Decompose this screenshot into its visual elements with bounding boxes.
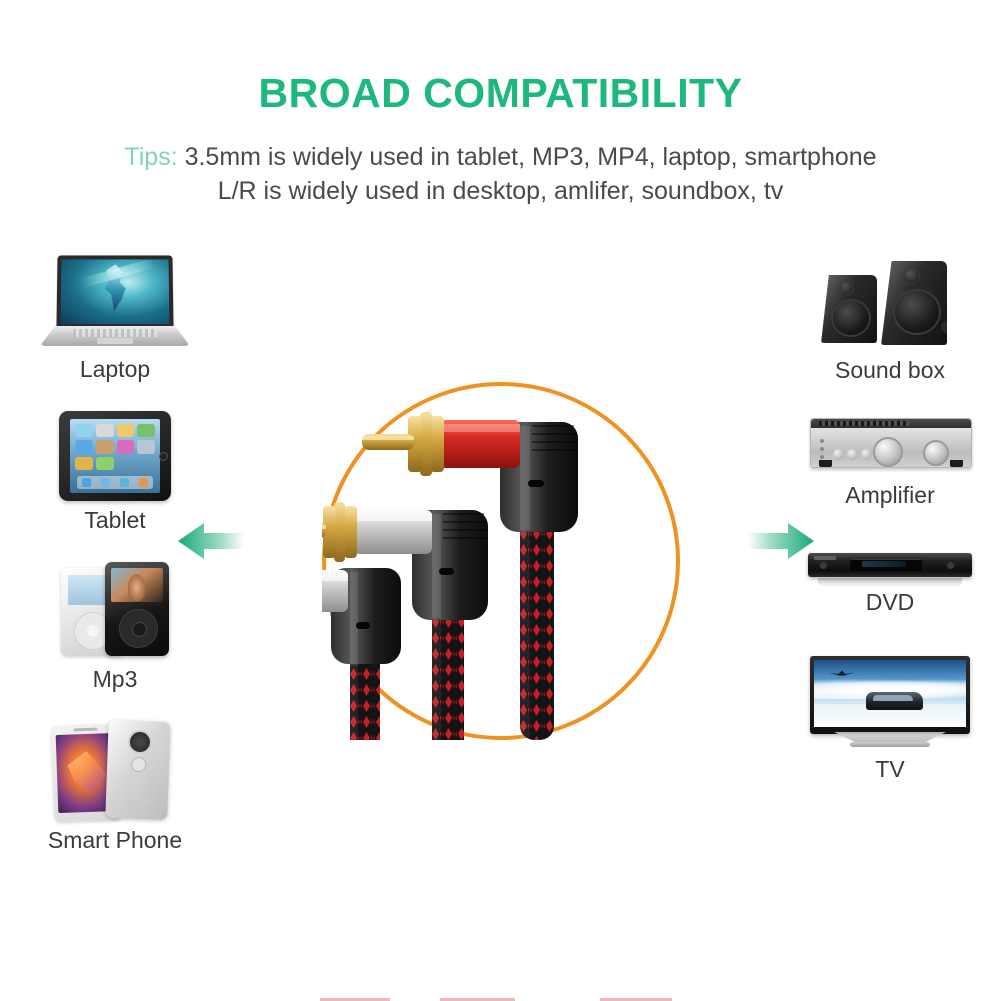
tablet-dock [77, 476, 153, 489]
tablet-icon [59, 411, 171, 501]
tablet-screen [70, 419, 160, 493]
tips-line-2: L/R is widely used in desktop, amlifer, … [0, 174, 1001, 208]
tv-bezel [810, 656, 970, 734]
device-amplifier: Amplifier [775, 414, 1001, 509]
device-mp3: Mp3 [0, 562, 230, 693]
phone-back-view [105, 720, 170, 820]
device-label-smartphone: Smart Phone [0, 827, 230, 854]
device-laptop: Laptop [0, 255, 230, 383]
mp3-black-unit [105, 562, 169, 656]
right-device-column: Sound box Amplifier [775, 255, 1001, 783]
laptop-keyboard-base [40, 326, 190, 346]
device-tv: TV [775, 656, 1001, 783]
dvd-player-icon [808, 543, 972, 583]
mp3-player-icon [61, 562, 169, 660]
smartphone-icon [45, 721, 185, 821]
tablet-app-grid [75, 424, 155, 470]
tv-screen [814, 660, 966, 727]
device-label-amplifier: Amplifier [775, 482, 1001, 509]
tips-label: Tips: [124, 143, 177, 171]
speakers-icon [815, 255, 965, 351]
tips-line-1-text: 3.5mm is widely used in tablet, MP3, MP4… [178, 143, 877, 171]
arrow-right-green [748, 520, 814, 562]
dvd-chassis [808, 553, 972, 577]
amplifier-icon [810, 414, 970, 476]
tv-foot [850, 742, 930, 747]
speaker-right [881, 261, 947, 345]
device-label-soundbox: Sound box [775, 357, 1001, 384]
arrow-left-green [178, 520, 244, 562]
device-label-tv: TV [775, 756, 1001, 783]
speaker-left [821, 275, 877, 343]
tablet-home-button [159, 452, 168, 461]
product-cable-image [322, 382, 680, 740]
device-label-laptop: Laptop [0, 356, 230, 383]
laptop-icon [40, 255, 190, 350]
connector-35mm-jack [322, 568, 401, 740]
television-icon [810, 656, 970, 750]
amplifier-chassis [810, 418, 972, 468]
device-soundbox: Sound box [775, 255, 1001, 384]
device-label-mp3: Mp3 [0, 666, 230, 693]
device-smartphone: Smart Phone [0, 721, 230, 854]
tips-line-1: Tips: 3.5mm is widely used in tablet, MP… [0, 140, 1001, 174]
laptop-screen [56, 255, 173, 329]
device-tablet: Tablet [0, 411, 230, 534]
tips-block: Tips: 3.5mm is widely used in tablet, MP… [0, 140, 1001, 208]
amplifier-volume-knob [873, 437, 903, 467]
tablet-body [59, 411, 171, 501]
page-title: BROAD COMPATIBILITY [0, 70, 1001, 117]
infographic-canvas: BROAD COMPATIBILITY Tips: 3.5mm is widel… [0, 0, 1001, 1001]
amplifier-selector-knob [923, 440, 949, 466]
device-label-dvd: DVD [775, 589, 1001, 616]
